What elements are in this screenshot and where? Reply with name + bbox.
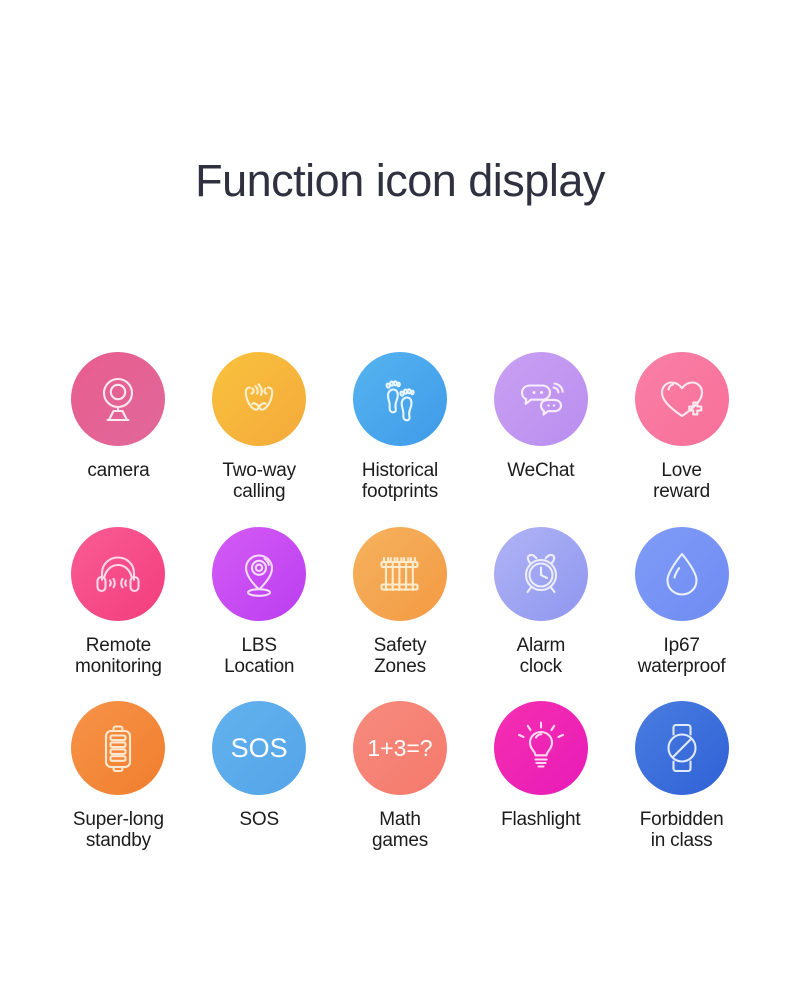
- headphones-icon[interactable]: [71, 527, 165, 621]
- icon-cell[interactable]: Ip67 waterproof: [611, 527, 752, 678]
- icon-label: Alarm clock: [516, 635, 565, 678]
- icon-label: SOS: [239, 809, 279, 830]
- icon-cell[interactable]: 1+3=?Math games: [330, 701, 471, 852]
- icon-cell[interactable]: SOSSOS: [189, 701, 330, 852]
- icon-label: camera: [87, 460, 149, 481]
- icon-label: LBS Location: [224, 635, 294, 678]
- icon-label: Two-way calling: [222, 460, 296, 503]
- icon-label: Ip67 waterproof: [638, 635, 726, 678]
- icon-cell[interactable]: Safety Zones: [330, 527, 471, 678]
- light-bulb-icon[interactable]: [494, 701, 588, 795]
- icon-cell[interactable]: Forbidden in class: [611, 701, 752, 852]
- icon-label: Remote monitoring: [75, 635, 162, 678]
- icon-cell[interactable]: WeChat: [470, 352, 611, 503]
- two-way-call-icon[interactable]: [212, 352, 306, 446]
- function-icon-display-page: Function icon display cameraTwo-way call…: [0, 0, 800, 981]
- icon-cell[interactable]: Two-way calling: [189, 352, 330, 503]
- webcam-icon[interactable]: [71, 352, 165, 446]
- page-title: Function icon display: [0, 156, 800, 206]
- location-pin-icon[interactable]: [212, 527, 306, 621]
- water-drop-icon[interactable]: [635, 527, 729, 621]
- icon-label: Historical footprints: [362, 460, 438, 503]
- icon-label: Super-long standby: [73, 809, 164, 852]
- icon-label: Love reward: [653, 460, 710, 503]
- icon-label: Flashlight: [501, 809, 580, 830]
- chat-bubbles-icon[interactable]: [494, 352, 588, 446]
- icon-cell[interactable]: LBS Location: [189, 527, 330, 678]
- icon-cell[interactable]: Super-long standby: [48, 701, 189, 852]
- icon-label: Safety Zones: [374, 635, 427, 678]
- icon-cell[interactable]: Love reward: [611, 352, 752, 503]
- icon-cell[interactable]: camera: [48, 352, 189, 503]
- math-equation-icon[interactable]: 1+3=?: [353, 701, 447, 795]
- fence-icon[interactable]: [353, 527, 447, 621]
- icon-label: Math games: [372, 809, 428, 852]
- icon-glyph-text: 1+3=?: [367, 737, 432, 760]
- battery-icon[interactable]: [71, 701, 165, 795]
- icon-label: WeChat: [507, 460, 574, 481]
- icon-label: Forbidden in class: [640, 809, 724, 852]
- icon-glyph-text: SOS: [231, 735, 288, 762]
- icon-cell[interactable]: Historical footprints: [330, 352, 471, 503]
- icon-cell[interactable]: Remote monitoring: [48, 527, 189, 678]
- icon-cell[interactable]: Flashlight: [470, 701, 611, 852]
- no-watch-icon[interactable]: [635, 701, 729, 795]
- icon-grid: cameraTwo-way callingHistorical footprin…: [48, 352, 752, 852]
- heart-plus-icon[interactable]: [635, 352, 729, 446]
- alarm-clock-icon[interactable]: [494, 527, 588, 621]
- footprints-icon[interactable]: [353, 352, 447, 446]
- sos-text-icon[interactable]: SOS: [212, 701, 306, 795]
- icon-cell[interactable]: Alarm clock: [470, 527, 611, 678]
